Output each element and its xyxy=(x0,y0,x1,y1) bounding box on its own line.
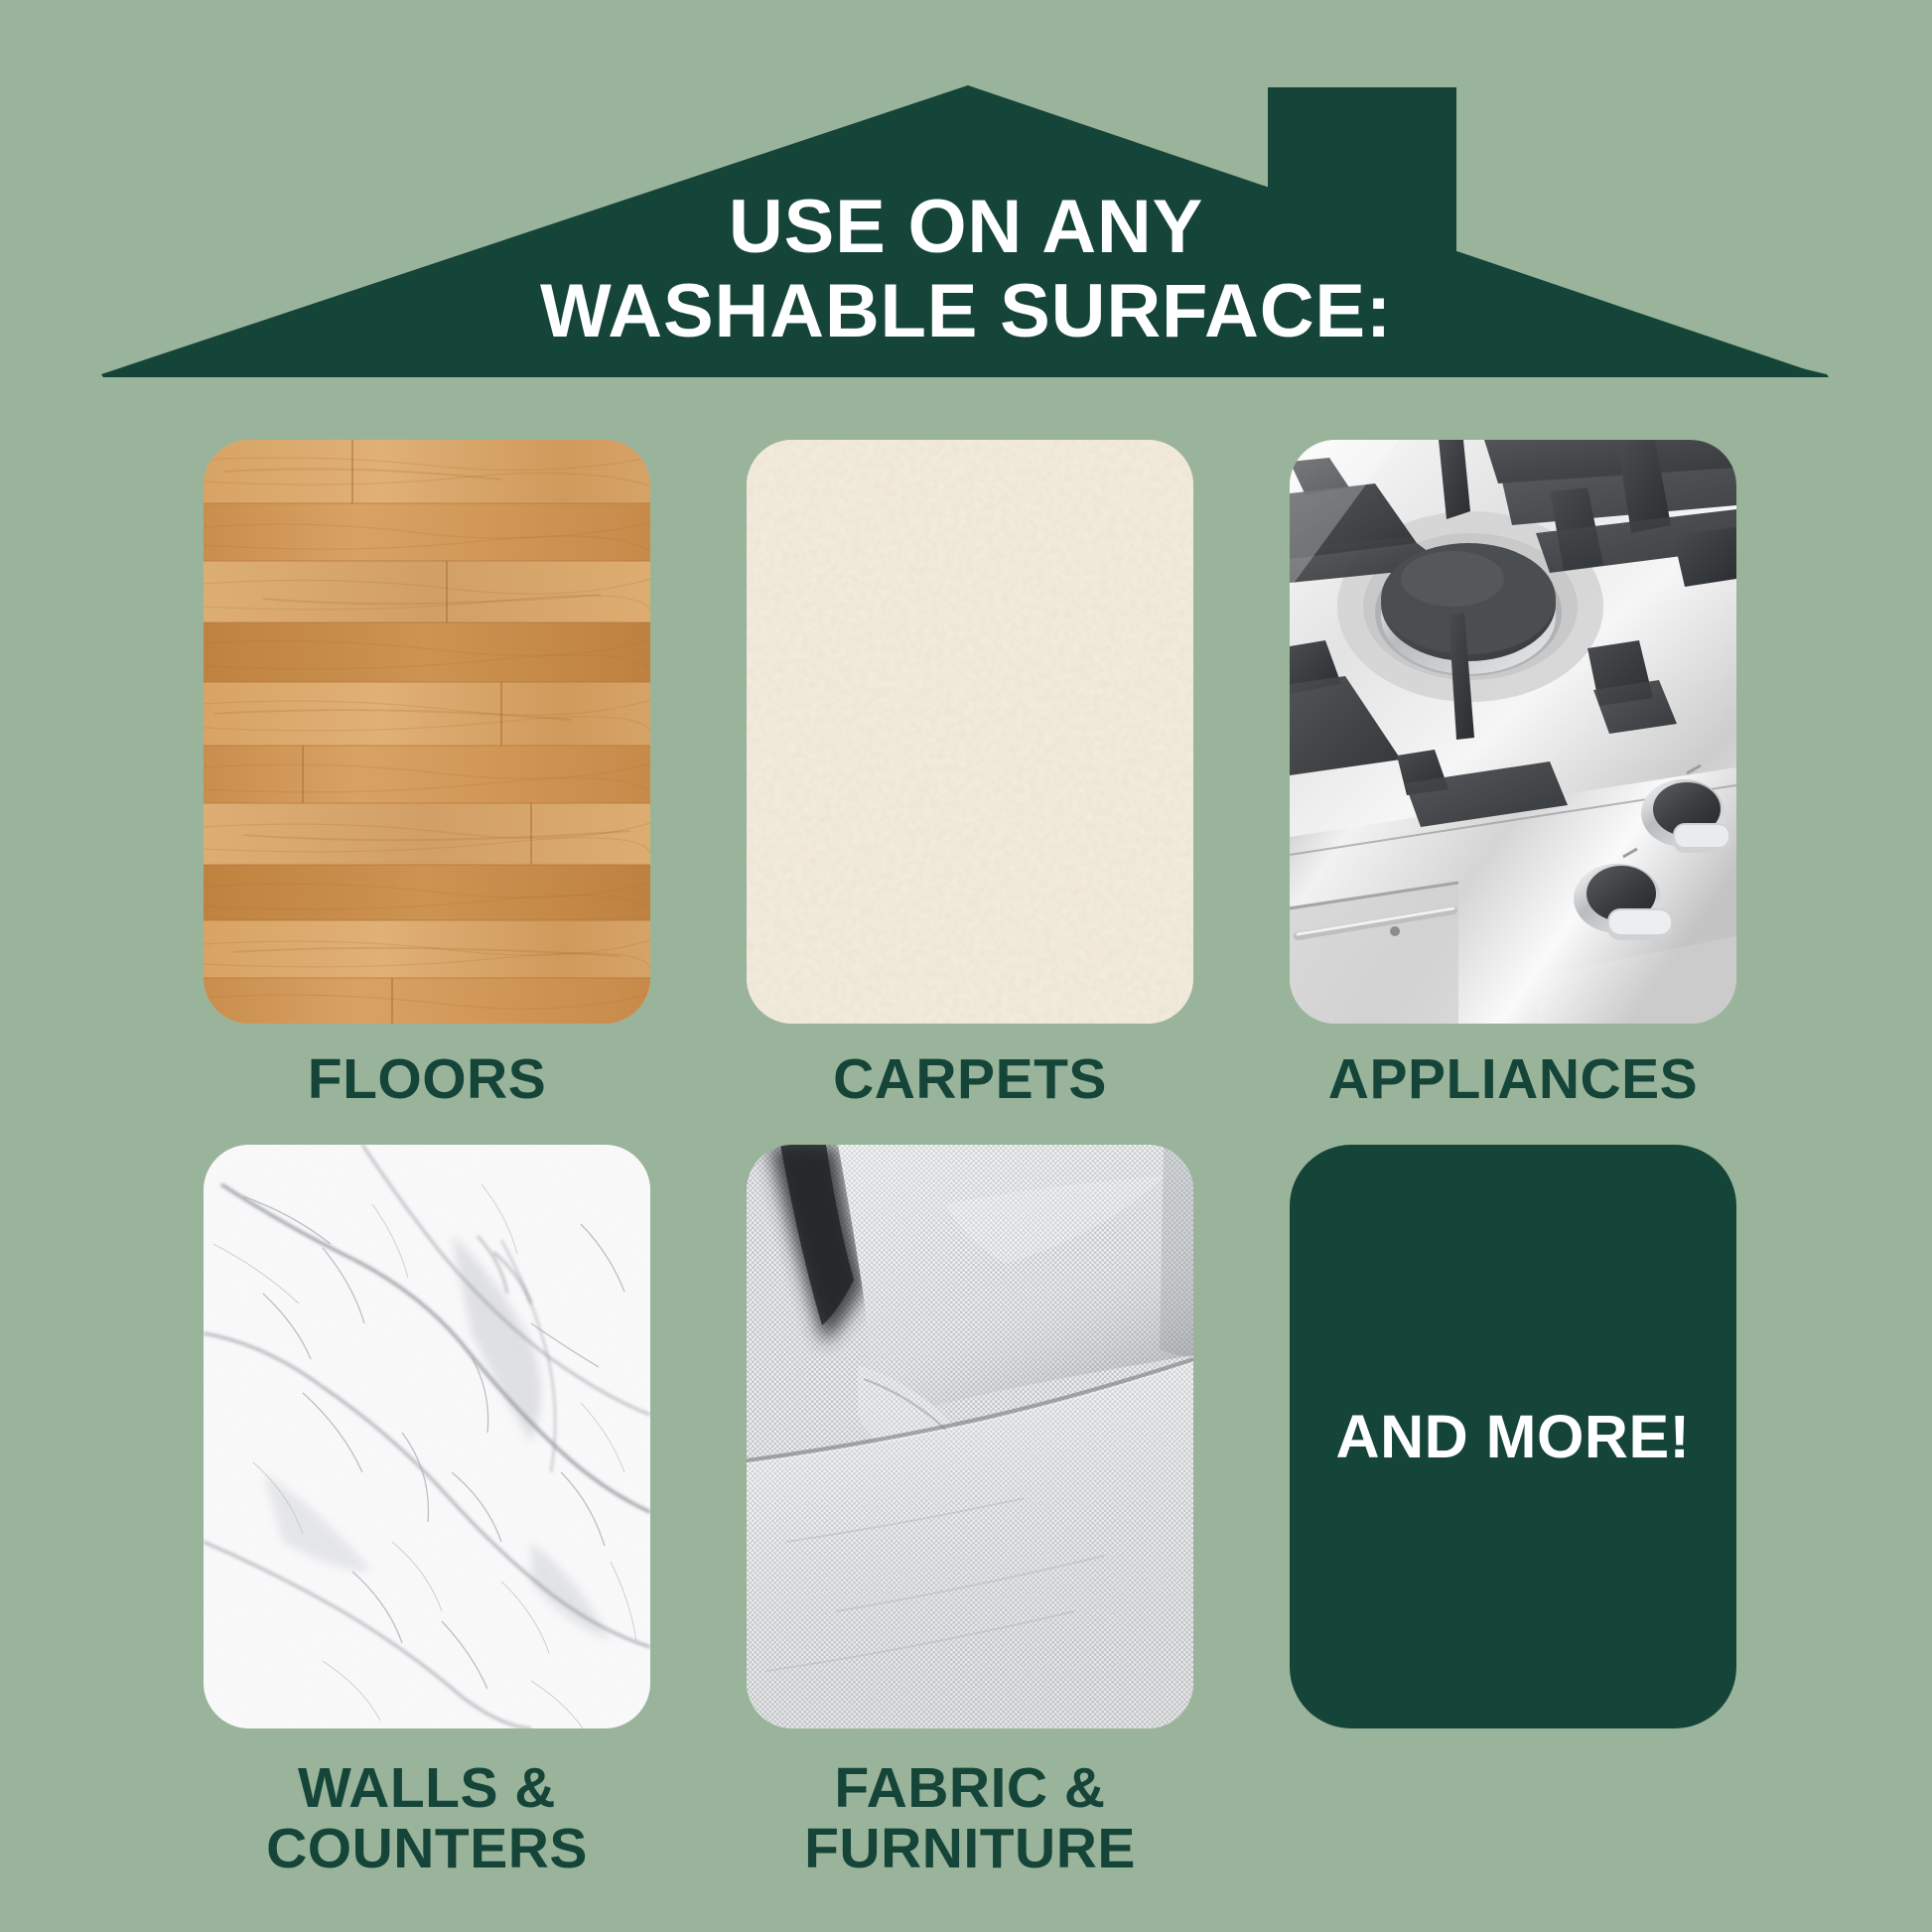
roof-with-chimney-icon xyxy=(0,0,1932,389)
marble-slab-icon xyxy=(204,1145,650,1728)
wood-floor-icon xyxy=(204,440,650,1024)
surface-grid: FLOORS xyxy=(204,440,1737,1880)
cell-label-fabric-furniture: FABRIC & FURNITURE xyxy=(804,1758,1136,1880)
cell-label-appliances: APPLIANCES xyxy=(1328,1049,1698,1111)
grid-cell-appliances[interactable]: APPLIANCES xyxy=(1290,440,1736,1111)
and-more-label: AND MORE! xyxy=(1336,1402,1691,1471)
fabric-furniture-tile[interactable] xyxy=(747,1145,1193,1728)
appliances-tile[interactable] xyxy=(1290,440,1736,1024)
sofa-fabric-icon xyxy=(747,1145,1193,1728)
grid-cell-floors[interactable]: FLOORS xyxy=(204,440,650,1111)
cell-label-carpets: CARPETS xyxy=(833,1049,1107,1111)
carpet-texture-icon xyxy=(747,440,1193,1024)
grid-row-2: WALLS & COUNTERS xyxy=(204,1145,1737,1880)
gas-cooktop-icon xyxy=(1290,440,1736,1024)
cell-label-walls-counters: WALLS & COUNTERS xyxy=(266,1758,588,1880)
floors-tile[interactable] xyxy=(204,440,650,1024)
grid-cell-carpets[interactable]: CARPETS xyxy=(747,440,1193,1111)
header-roof-block: USE ON ANY WASHABLE SURFACE: xyxy=(0,0,1932,389)
infographic-page: USE ON ANY WASHABLE SURFACE: xyxy=(0,0,1932,1932)
walls-counters-tile[interactable] xyxy=(204,1145,650,1728)
grid-cell-walls-counters[interactable]: WALLS & COUNTERS xyxy=(204,1145,650,1880)
and-more-panel[interactable]: AND MORE! xyxy=(1290,1145,1736,1728)
carpets-tile[interactable] xyxy=(747,440,1193,1024)
grid-row-1: FLOORS xyxy=(204,440,1737,1111)
cell-label-floors: FLOORS xyxy=(308,1049,547,1111)
grid-cell-and-more[interactable]: AND MORE! xyxy=(1290,1145,1736,1880)
grid-cell-fabric-furniture[interactable]: FABRIC & FURNITURE xyxy=(747,1145,1193,1880)
